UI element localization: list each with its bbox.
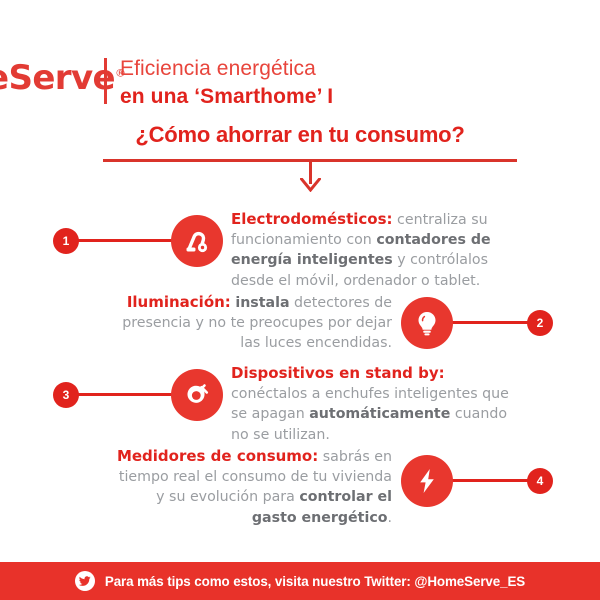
header-divider xyxy=(104,58,107,104)
tip-row-1: 1 Electrodomésticos: centraliza su funci… xyxy=(0,204,600,282)
step-badge-1: 1 xyxy=(53,228,79,254)
step-badge-4: 4 xyxy=(527,468,553,494)
infographic-canvas: eServe® Eficiencia energética en una ‘Sm… xyxy=(0,0,600,600)
step-badge-3: 3 xyxy=(53,382,79,408)
tip-body-3: conéctalos a enchufes inteligentes que s… xyxy=(231,386,509,442)
lightbulb-icon xyxy=(401,297,453,349)
header-subtitle: Eficiencia energética xyxy=(120,56,333,82)
connector-line-3 xyxy=(73,393,185,396)
tip-heading-2: Iluminación: xyxy=(127,293,231,311)
tip-text-4: Medidores de consumo: sabrás en tiempo r… xyxy=(112,446,392,528)
header: eServe® Eficiencia energética en una ‘Sm… xyxy=(0,28,600,90)
lightning-bolt-icon xyxy=(401,455,453,507)
tip-heading-3: Dispositivos en stand by: xyxy=(231,364,445,382)
power-plug-icon xyxy=(171,369,223,421)
logo-wordmark: eServe xyxy=(0,58,115,98)
vacuum-cleaner-icon xyxy=(171,215,223,267)
page-title: ¿Cómo ahorrar en tu consumo? xyxy=(0,122,600,148)
tip-text-1: Electrodomésticos: centraliza su funcion… xyxy=(231,209,511,291)
down-arrow-icon xyxy=(300,178,321,192)
header-title: en una ‘Smarthome’ I xyxy=(120,84,333,110)
tip-row-3: 3 Dispositivos en stand by: conéctalos a… xyxy=(0,362,600,440)
tip-heading-1: Electrodomésticos: xyxy=(231,210,393,228)
connector-line-4 xyxy=(443,479,533,482)
tip-text-3: Dispositivos en stand by: conéctalos a e… xyxy=(231,363,519,445)
tip-row-4: Medidores de consumo: sabrás en tiempo r… xyxy=(0,444,600,526)
connector-line-1 xyxy=(73,239,185,242)
tip-row-2: Iluminación: instala detectores de prese… xyxy=(0,290,600,360)
tip-text-2: Iluminación: instala detectores de prese… xyxy=(120,292,392,354)
step-badge-2: 2 xyxy=(527,310,553,336)
footer-text: Para más tips como estos, visita nuestro… xyxy=(105,574,525,589)
footer-banner: Para más tips como estos, visita nuestro… xyxy=(0,562,600,600)
footer-content: Para más tips como estos, visita nuestro… xyxy=(75,571,525,591)
connector-line-2 xyxy=(443,321,533,324)
twitter-bird-icon[interactable] xyxy=(75,571,95,591)
tip-heading-4: Medidores de consumo: xyxy=(117,447,318,465)
header-text-block: Eficiencia energética en una ‘Smarthome’… xyxy=(120,56,333,109)
